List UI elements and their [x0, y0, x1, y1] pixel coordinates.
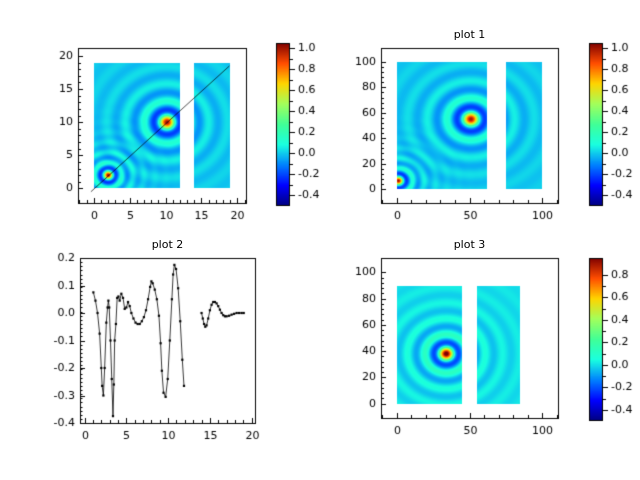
- panel-plot-2-render: [12, 240, 320, 480]
- panel-plot-3-render: [328, 240, 636, 480]
- panel-bottom-left: plot 2: [12, 240, 320, 480]
- panel-bottom-right: plot 3: [328, 240, 636, 480]
- panel-top-right: plot 1: [328, 8, 636, 240]
- panel-plot-1-render: [328, 8, 636, 240]
- panel-top-left-render: [12, 8, 320, 240]
- figure-canvas: plot 1 plot 2 plot 3: [0, 0, 640, 480]
- panel-top-left: [12, 8, 320, 240]
